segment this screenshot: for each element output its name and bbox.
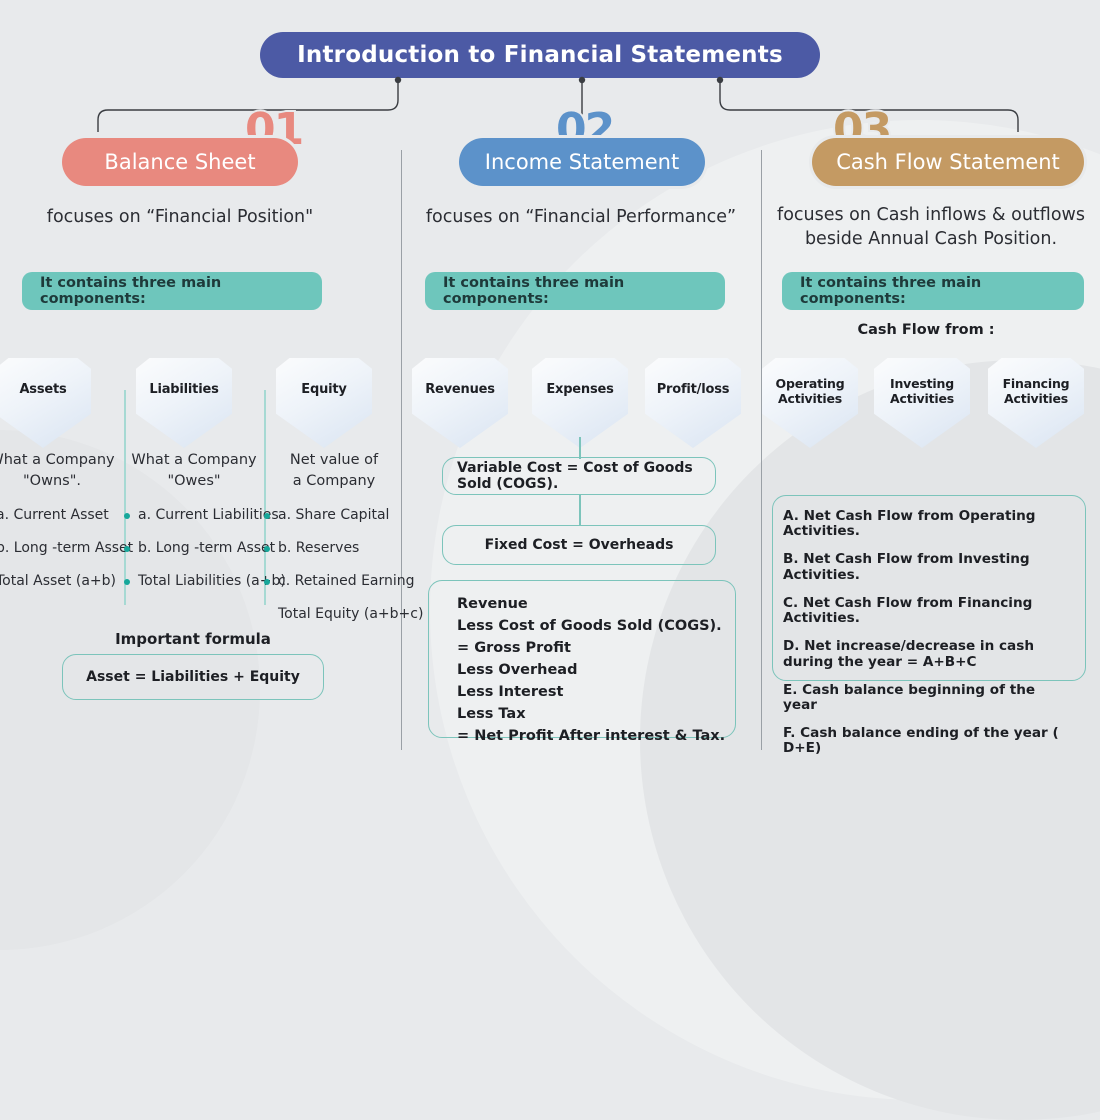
cash-flow-focus: focuses on Cash inflows & outflows besid… (766, 204, 1096, 251)
page-title-text: Introduction to Financial Statements (297, 42, 783, 68)
shield-financing-activities[interactable]: Financing Activities (988, 358, 1084, 448)
assets-list: a. Current Asset b. Long -term Asset Tot… (0, 508, 122, 588)
variable-cost-text: Variable Cost = Cost of Goods Sold (COGS… (457, 460, 701, 492)
formula-label: Important formula (62, 630, 324, 648)
shield-expenses-label: Expenses (546, 382, 613, 398)
list-item: Revenue (457, 593, 735, 615)
assets-desc-line1: What a Company (0, 450, 122, 471)
list-item-total-equity: Total Equity (a+b+c) (264, 607, 404, 621)
list-item: C. Net Cash Flow from Financing Activiti… (783, 596, 1073, 626)
fixed-cost-box: Fixed Cost = Overheads (442, 525, 716, 565)
list-item: a. Current Asset (0, 508, 122, 522)
shield-expenses[interactable]: Expenses (532, 358, 628, 448)
shield-revenues[interactable]: Revenues (412, 358, 508, 448)
assets-description: What a Company "Owns". (0, 450, 122, 492)
equity-desc-line1: Net value of (264, 450, 404, 471)
connector-expenses-to-variable-cost (579, 437, 581, 459)
list-item: Total Liabilities (a+b) (124, 574, 264, 588)
connector-variable-to-fixed-cost (579, 495, 581, 525)
shield-assets[interactable]: Assets (0, 358, 91, 448)
list-item: a. Share Capital (264, 508, 404, 522)
equity-description: Net value of a Company (264, 450, 404, 492)
shield-assets-label: Assets (19, 382, 66, 398)
list-item: B. Net Cash Flow from Investing Activiti… (783, 552, 1073, 582)
shield-liabilities-label: Liabilities (149, 382, 218, 398)
list-item: E. Cash balance beginning of the year (783, 683, 1073, 713)
list-item: b. Long -term Asset (0, 541, 122, 555)
shield-financing-line2: Activities (1004, 391, 1068, 406)
shield-investing-line1: Investing (890, 376, 954, 391)
shield-operating-activities[interactable]: Operating Activities (762, 358, 858, 448)
balance-sheet-title: Balance Sheet (104, 150, 255, 174)
list-item: A. Net Cash Flow from Operating Activiti… (783, 509, 1073, 539)
shield-financing-line1: Financing (1003, 376, 1070, 391)
income-statement-banner: It contains three main components: (425, 272, 725, 310)
income-statement-banner-text: It contains three main components: (443, 275, 707, 307)
cash-flow-focus-line2: beside Annual Cash Position. (766, 228, 1096, 252)
fixed-cost-text: Fixed Cost = Overheads (485, 537, 674, 553)
shield-investing-activities[interactable]: Investing Activities (874, 358, 970, 448)
list-item: = Gross Profit (457, 637, 735, 659)
shield-profit-loss[interactable]: Profit/loss (645, 358, 741, 448)
cash-flow-banner-text: It contains three main components: (800, 275, 1066, 307)
cash-flow-from-label: Cash Flow from : (766, 322, 1086, 338)
shield-equity-label: Equity (301, 382, 346, 398)
cash-flow-items-box: A. Net Cash Flow from Operating Activiti… (772, 495, 1086, 681)
shield-revenues-label: Revenues (425, 382, 495, 398)
page-title: Introduction to Financial Statements (260, 32, 820, 78)
cash-flow-banner: It contains three main components: (782, 272, 1084, 310)
liabilities-description: What a Company "Owes" (124, 450, 264, 492)
cash-flow-focus-line1: focuses on Cash inflows & outflows (766, 204, 1096, 228)
formula-text: Asset = Liabilities + Equity (86, 669, 300, 685)
list-item: Total Asset (a+b) (0, 574, 122, 588)
formula-box: Asset = Liabilities + Equity (62, 654, 324, 700)
assets-desc-line2: "Owns". (0, 471, 122, 492)
shield-operating-label: Operating Activities (776, 376, 845, 406)
shield-investing-label: Investing Activities (890, 376, 954, 406)
shield-operating-line2: Activities (778, 391, 842, 406)
liabilities-list: a. Current Liabilities b. Long -term Ass… (124, 508, 264, 588)
list-item: D. Net increase/decrease in cash during … (783, 639, 1073, 669)
list-item: Less Cost of Goods Sold (COGS). (457, 615, 735, 637)
income-statement-focus: focuses on “Financial Performance” (411, 206, 751, 230)
shield-equity[interactable]: Equity (276, 358, 372, 448)
balance-sheet-banner-text: It contains three main components: (40, 275, 304, 307)
variable-cost-box: Variable Cost = Cost of Goods Sold (COGS… (442, 457, 716, 495)
balance-sheet-header[interactable]: Balance Sheet (62, 138, 298, 186)
liabilities-desc-line1: What a Company (124, 450, 264, 471)
shield-liabilities[interactable]: Liabilities (136, 358, 232, 448)
shield-operating-line1: Operating (776, 376, 845, 391)
balance-sheet-focus: focuses on “Financial Position" (10, 206, 350, 230)
list-item: Less Interest (457, 681, 735, 703)
shield-profit-loss-label: Profit/loss (657, 382, 730, 398)
balance-sheet-banner: It contains three main components: (22, 272, 322, 310)
list-item: Less Tax (457, 703, 735, 725)
list-item: a. Current Liabilities (124, 508, 264, 522)
liabilities-desc-line2: "Owes" (124, 471, 264, 492)
list-item: F. Cash balance ending of the year ( D+E… (783, 726, 1073, 756)
list-item: c. Retained Earning (264, 574, 404, 588)
income-statement-header[interactable]: Income Statement (459, 138, 705, 186)
shield-financing-label: Financing Activities (1003, 376, 1070, 406)
cash-flow-title: Cash Flow Statement (836, 150, 1060, 174)
list-item: b. Long -term Asset (124, 541, 264, 555)
equity-list: a. Share Capital b. Reserves c. Retained… (264, 508, 404, 621)
shield-investing-line2: Activities (890, 391, 954, 406)
list-item: Less Overhead (457, 659, 735, 681)
income-statement-title: Income Statement (485, 150, 679, 174)
list-item: = Net Profit After interest & Tax. (457, 725, 735, 747)
income-statement-lines-box: Revenue Less Cost of Goods Sold (COGS). … (428, 580, 736, 738)
equity-desc-line2: a Company (264, 471, 404, 492)
cash-flow-header[interactable]: Cash Flow Statement (812, 138, 1084, 186)
list-item: b. Reserves (264, 541, 404, 555)
column-divider-2 (761, 150, 762, 750)
